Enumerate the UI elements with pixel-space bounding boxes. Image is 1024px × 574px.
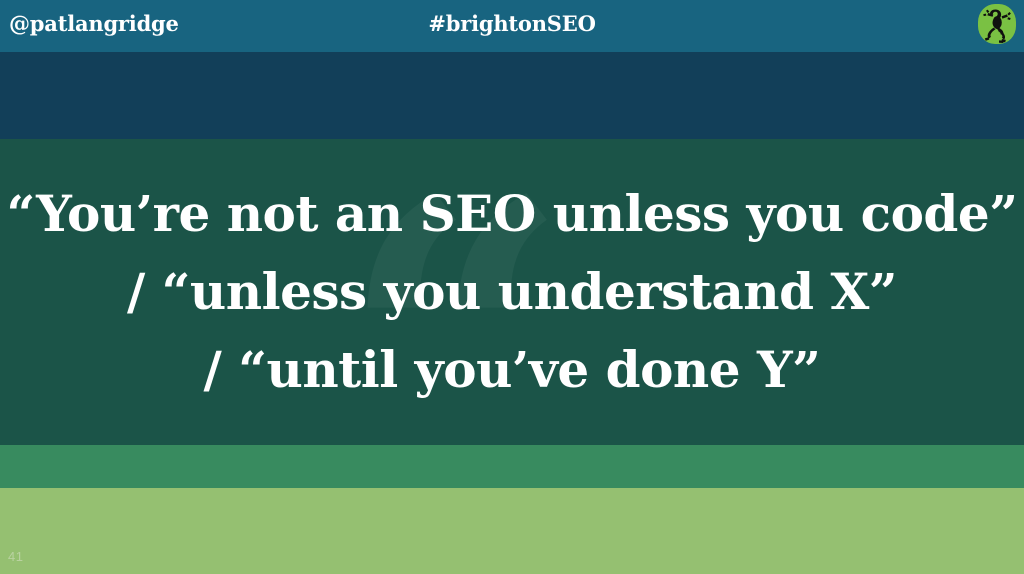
page-number: 41 xyxy=(8,549,23,564)
quote-line-3: / “until you’ve done Y” xyxy=(0,331,1024,409)
screaming-frog-logo-icon xyxy=(975,2,1019,46)
navy-band xyxy=(0,52,1024,139)
event-hashtag: #brightonSEO xyxy=(0,11,1024,36)
slide-header: @patlangridge #brightonSEO xyxy=(0,0,1024,52)
mid-green-band xyxy=(0,445,1024,488)
presentation-slide: “ @patlangridge #brightonSEO xyxy=(0,0,1024,574)
quote-line-1: “You’re not an SEO unless you code” xyxy=(0,175,1024,253)
quote-block: “You’re not an SEO unless you code” / “u… xyxy=(0,139,1024,445)
bottom-green-band xyxy=(0,488,1024,574)
quote-line-2: / “unless you understand X” xyxy=(0,253,1024,331)
